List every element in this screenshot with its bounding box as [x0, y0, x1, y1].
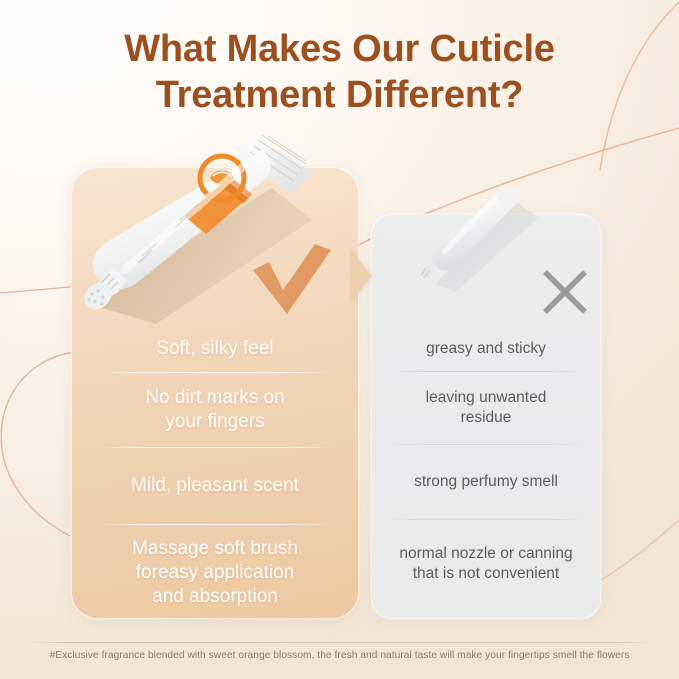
positive-feature-list: Soft, silky feel No dirt marks on your f… — [72, 326, 358, 621]
footer-note: #Exclusive fragrance blended with sweet … — [0, 650, 679, 661]
list-item: Soft, silky feel — [72, 326, 358, 372]
plain-white-tube-image — [410, 180, 560, 310]
list-item: strong perfumy smell — [372, 445, 600, 519]
list-item: Massage soft brush foreasy application a… — [72, 525, 358, 621]
title-line-1: What Makes Our Cuticle — [124, 28, 555, 70]
list-item: No dirt marks on your fingers — [72, 373, 358, 447]
positive-panel-pointer — [350, 249, 372, 303]
list-item: greasy and sticky — [372, 327, 600, 371]
list-item: leaving unwanted residue — [372, 372, 600, 444]
check-icon — [249, 244, 335, 316]
list-item: normal nozzle or canning that is not con… — [372, 520, 600, 608]
negative-feature-list: greasy and sticky leaving unwanted resid… — [372, 327, 600, 608]
page-title: What Makes Our Cuticle Treatment Differe… — [0, 26, 679, 119]
footer-divider — [26, 642, 653, 643]
cross-icon — [541, 268, 589, 316]
infographic-canvas: What Makes Our Cuticle Treatment Differe… — [0, 0, 679, 679]
title-line-2: Treatment Different? — [0, 72, 679, 118]
list-item: Mild, pleasant scent — [72, 448, 358, 524]
